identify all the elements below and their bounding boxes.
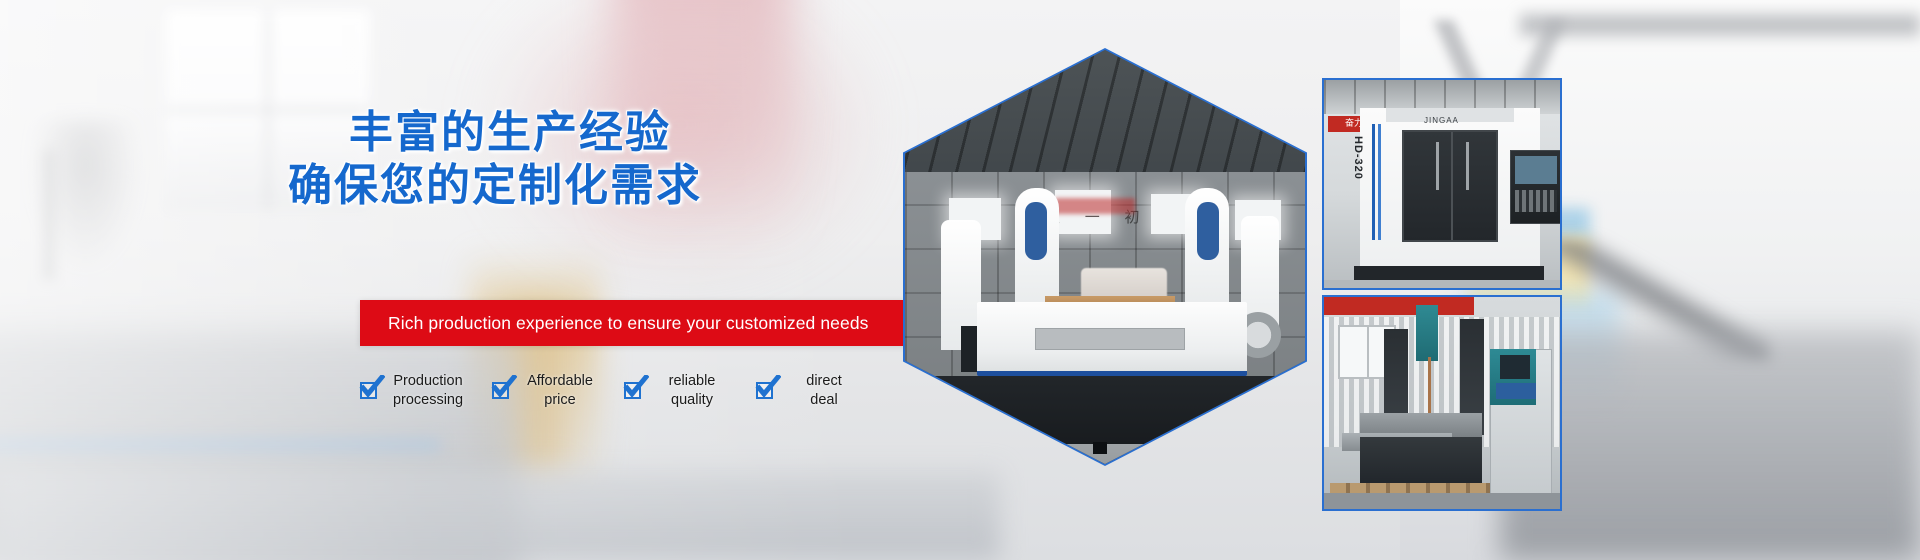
machine-foot [1159,442,1173,454]
edm-control-keypad [1496,383,1536,399]
mc-control-keypad [1515,190,1557,212]
machine-foot [1093,442,1107,454]
feature-item-direct-deal[interactable]: direct deal [756,372,864,410]
feature-item-reliable-quality[interactable]: reliable quality [624,372,732,410]
edm-control-screen [1500,355,1530,379]
headline-line-2: 确保您的定制化需求 [280,159,710,212]
workshop-red-banner [1055,198,1135,214]
feature-label-line-1: reliable [669,373,716,389]
hero-banner: 丰富的生产经验 确保您的定制化需求 Rich production experi… [0,0,1920,560]
machine-table-window [1035,328,1185,350]
feature-label: Affordable price [520,372,600,410]
machine-panel-left [1025,202,1047,260]
mc-door-handle [1466,142,1469,190]
edm-wall-banner [1324,297,1474,315]
headline-line-1: 丰富的生产经验 [310,106,710,159]
workshop-roof [905,50,1305,190]
feature-label: direct deal [784,372,864,410]
side-photo-machining-center: 奋力 HD-320 JINGAA [1322,78,1562,290]
feature-label-line-2: price [544,392,575,408]
checkbox-icon[interactable] [624,382,641,399]
mc-door [1402,130,1498,242]
edm-floor [1324,493,1560,511]
headline: 丰富的生产经验 确保您的定制化需求 [310,106,710,212]
mc-control-screen [1515,156,1557,184]
feature-item-production-processing[interactable]: Production processing [360,372,468,410]
subtitle-text: Rich production experience to ensure you… [388,313,869,334]
machine-panel-right [1197,202,1219,260]
edm-body [1360,437,1482,487]
feature-label-line-2: deal [810,392,837,408]
checkbox-icon[interactable] [756,382,773,399]
hexagon-photo: 定 一 初 [903,48,1307,466]
side-photo-edm-machine [1322,295,1562,511]
feature-label: reliable quality [652,372,732,410]
hexagon-photo-content: 定 一 初 [905,50,1305,464]
mc-floor [1324,280,1560,290]
subtitle-bar: Rich production experience to ensure you… [360,300,920,346]
machine-foot [1015,442,1029,454]
mc-blue-stripe [1378,124,1381,240]
edm-head [1416,305,1438,361]
feature-list: Production processing Affordable price [360,372,888,410]
mc-blue-stripe [1372,124,1375,240]
mc-brand-label: JINGAA [1424,116,1459,125]
checkbox-icon[interactable] [360,382,377,399]
feature-label-line-2: quality [671,392,713,408]
mc-model-label: HD-320 [1352,136,1364,180]
mc-door-handle [1436,142,1439,190]
feature-label-line-1: Affordable [527,373,593,389]
feature-label-line-2: processing [393,392,463,408]
feature-label: Production processing [388,372,468,410]
feature-label-line-1: direct [806,373,841,389]
checkbox-icon[interactable] [492,382,509,399]
feature-label-line-1: Production [393,373,462,389]
feature-item-affordable-price[interactable]: Affordable price [492,372,600,410]
